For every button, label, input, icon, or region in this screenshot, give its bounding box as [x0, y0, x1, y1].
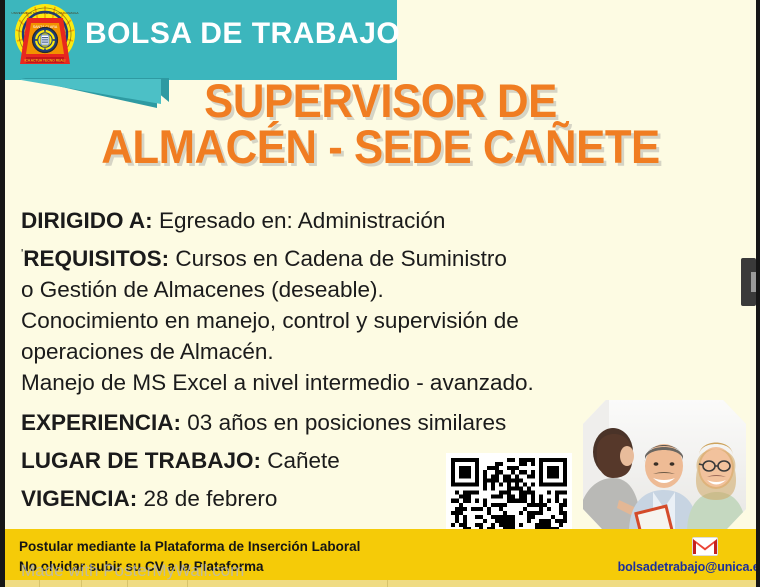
- requirement-line: o Gestión de Almacenes (deseable).: [21, 274, 661, 305]
- vertical-scrollbar-track[interactable]: [741, 0, 756, 587]
- field-value: 28 de febrero: [144, 486, 278, 511]
- field-label: DIRIGIDO A:: [21, 208, 153, 233]
- page-title-line1: SUPERVISOR DE: [204, 74, 557, 127]
- page-title-line2: ALMACÉN - SEDE CAÑETE: [31, 124, 729, 170]
- vertical-scrollbar-thumb[interactable]: [741, 258, 756, 306]
- job-interview-photo: [583, 400, 746, 533]
- contact-block: bolsadetrabajo@unica.edu.pe: [605, 537, 756, 576]
- field-dirigido-a: DIRIGIDO A: Egresado en: Administración: [21, 205, 661, 236]
- bottom-os-strip: [5, 580, 760, 587]
- postermywall-watermark: Made with PosterMyWall.com: [21, 561, 244, 581]
- browser-viewport: ICA ACTUA TECNO REALI SANTA CLARA: [0, 0, 760, 587]
- footer-line-1: Postular mediante la Plataforma de Inser…: [19, 537, 439, 557]
- header-banner: ICA ACTUA TECNO REALI SANTA CLARA: [5, 0, 419, 80]
- footer-bar: Postular mediante la Plataforma de Inser…: [5, 529, 756, 587]
- banner-title: BOLSA DE TRABAJO: [85, 17, 400, 51]
- field-label: LUGAR DE TRABAJO:: [21, 448, 261, 473]
- requirement-line: Manejo de MS Excel a nivel intermedio - …: [21, 367, 661, 398]
- contact-email[interactable]: bolsadetrabajo@unica.edu.pe: [618, 560, 756, 574]
- university-seal-icon: ICA ACTUA TECNO REALI SANTA CLARA: [7, 2, 83, 76]
- field-requisitos: 'REQUISITOS: Cursos en Cadena de Suminis…: [21, 243, 661, 274]
- field-experiencia: EXPERIENCIA: 03 años en posiciones simil…: [21, 407, 661, 438]
- field-value: Egresado en: Administración: [159, 208, 445, 233]
- field-value: 03 años en posiciones similares: [187, 410, 506, 435]
- field-label: EXPERIENCIA:: [21, 410, 181, 435]
- requirement-line: Conocimiento en manejo, control y superv…: [21, 305, 661, 336]
- field-label: VIGENCIA:: [21, 486, 137, 511]
- svg-text:ICA ACTUA TECNO REALI: ICA ACTUA TECNO REALI: [24, 59, 65, 63]
- field-value: Cañete: [267, 448, 340, 473]
- job-posting-poster: ICA ACTUA TECNO REALI SANTA CLARA: [5, 0, 756, 587]
- field-value: Cursos en Cadena de Suministro: [175, 246, 506, 271]
- page-title: SUPERVISOR DE ALMACÉN - SEDE CAÑETE: [31, 78, 729, 170]
- requirement-line: operaciones de Almacén.: [21, 336, 661, 367]
- gmail-icon: [692, 537, 718, 556]
- svg-text:UNIVERSIDAD NACIONAL SAN LUIS: UNIVERSIDAD NACIONAL SAN LUIS GONZAGA: [12, 11, 79, 15]
- field-label: REQUISITOS:: [23, 246, 169, 271]
